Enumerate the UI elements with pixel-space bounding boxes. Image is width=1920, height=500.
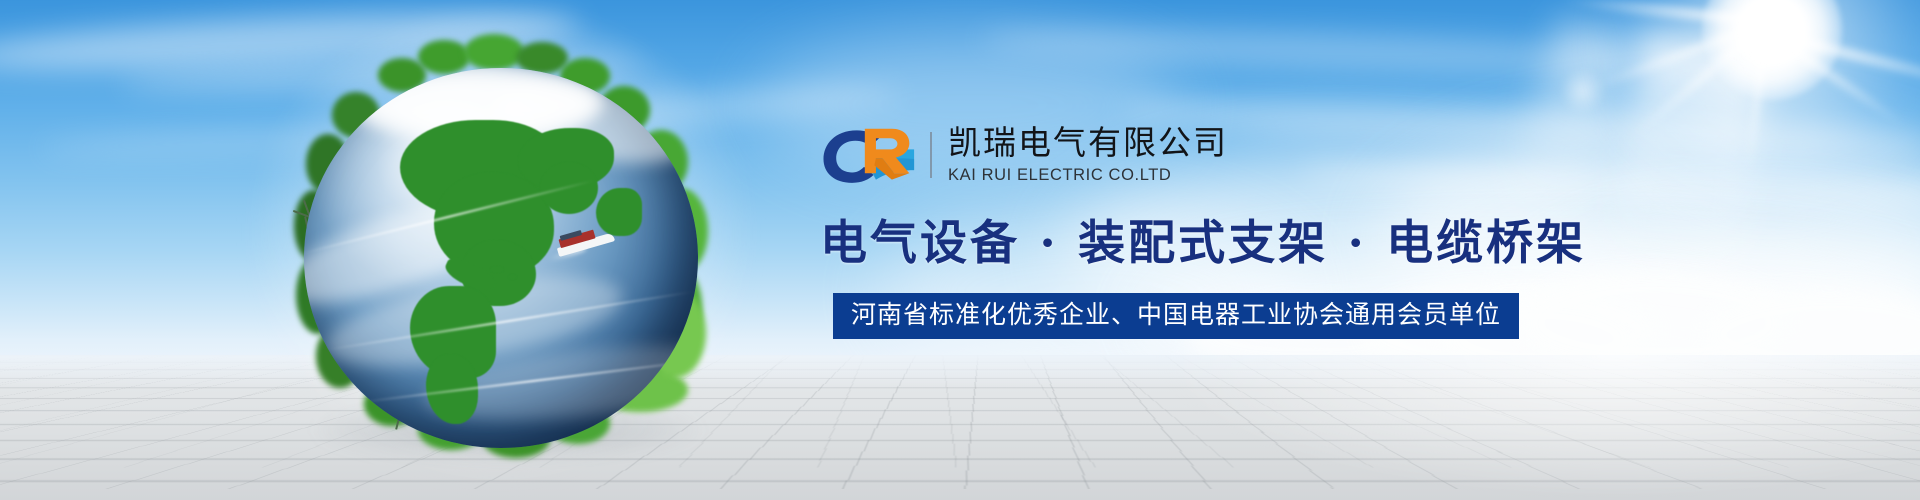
brand-names: 凯瑞电气有限公司 KAI RUI ELECTRIC CO.LTD (948, 125, 1228, 185)
vertical-divider-icon (930, 132, 932, 178)
banner-content: 凯瑞电气有限公司 KAI RUI ELECTRIC CO.LTD 电气设备 · … (820, 118, 1580, 339)
sun-with-rays-icon (1632, 0, 1912, 200)
cargo-ship-icon (554, 220, 619, 262)
landmass-canada-east (540, 162, 598, 214)
brand-row: 凯瑞电气有限公司 KAI RUI ELECTRIC CO.LTD (820, 118, 1580, 192)
cr-monogram-logo[interactable] (820, 124, 916, 186)
hero-banner: 凯瑞电气有限公司 KAI RUI ELECTRIC CO.LTD 电气设备 · … (0, 0, 1920, 500)
island-icon (490, 266, 504, 273)
company-name-en: KAI RUI ELECTRIC CO.LTD (948, 165, 1228, 186)
tree-icon (464, 34, 524, 70)
globe-sphere (304, 68, 698, 448)
cr-logo-svg (820, 124, 916, 186)
ground-light-sheen (1150, 355, 1920, 500)
credentials-badge: 河南省标准化优秀企业、中国电器工业协会通用会员单位 (833, 293, 1519, 338)
banner-slogan: 电气设备 · 装配式支架 · 电缆桥架 (820, 216, 1580, 271)
green-earth-globe (268, 38, 732, 482)
island-icon (508, 274, 517, 280)
company-name-cn: 凯瑞电气有限公司 (948, 125, 1228, 161)
